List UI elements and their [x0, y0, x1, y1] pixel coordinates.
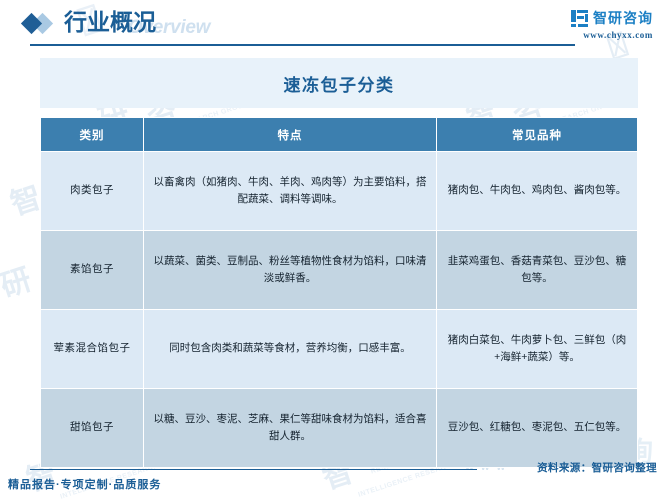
column-header-varieties: 常见品种	[437, 118, 637, 151]
cell-features: 以蔬菜、菌类、豆制品、粉丝等植物性食材为馅料，口味清淡或鲜香。	[144, 231, 436, 309]
diamond-icon	[24, 11, 58, 35]
cell-category: 素馅包子	[41, 231, 143, 309]
brand-name: 智研咨询	[593, 8, 653, 28]
table-row: 荤素混合馅包子 同时包含肉类和蔬菜等食材，营养均衡，口感丰富。 猪肉白菜包、牛肉…	[41, 310, 637, 388]
card-title: 速冻包子分类	[40, 58, 638, 108]
source-note: 资料来源：智研咨询整理	[537, 460, 657, 475]
cell-varieties: 韭菜鸡蛋包、香菇青菜包、豆沙包、糖包等。	[437, 231, 637, 309]
section-title-group: 行业概况	[24, 6, 156, 40]
table-head: 类别 特点 常见品种	[41, 118, 637, 151]
table-body: 肉类包子 以畜禽肉（如猪肉、牛肉、羊肉、鸡肉等）为主要馅料，搭配蔬菜、调料等调味…	[41, 152, 637, 467]
cell-varieties: 猪肉包、牛肉包、鸡肉包、酱肉包等。	[437, 152, 637, 230]
watermark-text: 研	[0, 254, 36, 305]
cell-features: 以畜禽肉（如猪肉、牛肉、羊肉、鸡肉等）为主要馅料，搭配蔬菜、调料等调味。	[144, 152, 436, 230]
cell-category: 肉类包子	[41, 152, 143, 230]
chyxx-logo-icon	[571, 10, 588, 27]
table-row: 肉类包子 以畜禽肉（如猪肉、牛肉、羊肉、鸡肉等）为主要馅料，搭配蔬菜、调料等调味…	[41, 152, 637, 230]
footer-slogan: 精品报告·专项定制·品质服务	[8, 476, 161, 492]
table-row: 甜馅包子 以糖、豆沙、枣泥、芝麻、果仁等甜味食材为馅料，适合喜甜人群。 豆沙包、…	[41, 389, 637, 467]
brand-row: 智研咨询	[571, 8, 653, 28]
footer-divider	[30, 469, 477, 471]
brand-block[interactable]: 智研咨询 www.chyxx.com	[571, 8, 653, 40]
column-header-features: 特点	[144, 118, 436, 151]
table-row: 素馅包子 以蔬菜、菌类、豆制品、粉丝等植物性食材为馅料，口味清淡或鲜香。 韭菜鸡…	[41, 231, 637, 309]
page-title: 行业概况	[64, 12, 156, 35]
column-header-category: 类别	[41, 118, 143, 151]
page-header: Overview 行业概况 智研咨询 www.chyxx.com	[0, 0, 667, 47]
classification-table: 类别 特点 常见品种 肉类包子 以畜禽肉（如猪肉、牛肉、羊肉、鸡肉等）为主要馅料…	[40, 117, 638, 468]
table-header-row: 类别 特点 常见品种	[41, 118, 637, 151]
cell-category: 荤素混合馅包子	[41, 310, 143, 388]
cell-varieties: 猪肉白菜包、牛肉萝卜包、三鲜包（肉+海鲜+蔬菜）等。	[437, 310, 637, 388]
header-divider	[30, 44, 575, 46]
cell-features: 以糖、豆沙、枣泥、芝麻、果仁等甜味食材为馅料，适合喜甜人群。	[144, 389, 436, 467]
brand-url[interactable]: www.chyxx.com	[571, 30, 653, 40]
cell-features: 同时包含肉类和蔬菜等食材，营养均衡，口感丰富。	[144, 310, 436, 388]
chart-card: 速冻包子分类 类别 特点 常见品种 肉类包子 以畜禽肉（如猪肉、牛肉、羊肉、鸡肉…	[40, 58, 638, 468]
cell-category: 甜馅包子	[41, 389, 143, 467]
cell-varieties: 豆沙包、红糖包、枣泥包、五仁包等。	[437, 389, 637, 467]
